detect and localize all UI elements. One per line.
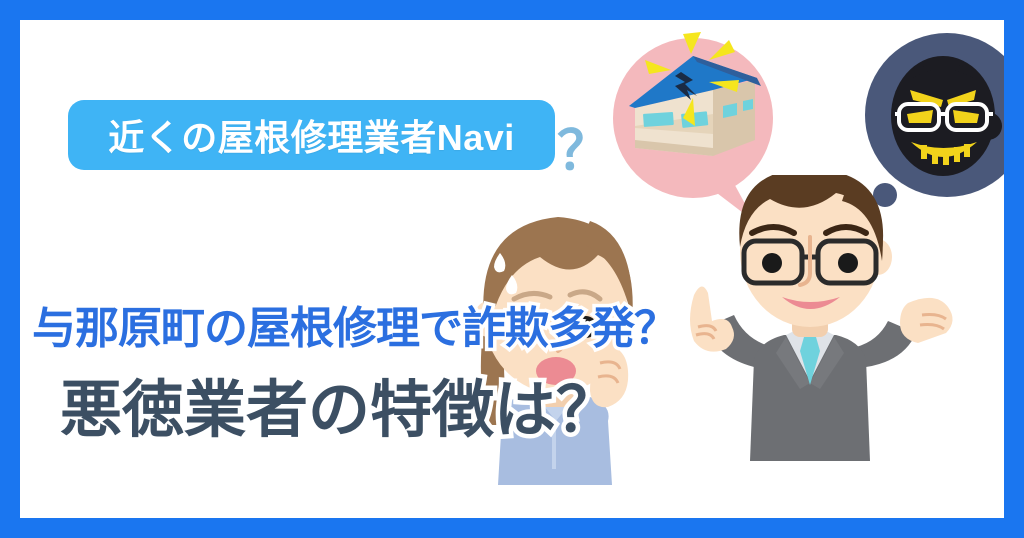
pointing-businessman-illustration bbox=[650, 175, 970, 495]
site-logo-badge[interactable]: 近くの屋根修理業者Navi bbox=[68, 100, 555, 170]
banner-canvas: 近くの屋根修理業者Navi ？ 与那原町の屋根修理で詐欺多発？ 悪徳業者の特徴は… bbox=[0, 0, 1024, 538]
site-logo-label: 近くの屋根修理業者Navi bbox=[108, 109, 515, 161]
banner-inner-area: 近くの屋根修理業者Navi ？ 与那原町の屋根修理で詐欺多発？ 悪徳業者の特徴は… bbox=[20, 20, 1004, 518]
headline-line-1: 与那原町の屋根修理で詐欺多発？ bbox=[32, 307, 677, 351]
question-mark-decor: ？ bbox=[557, 124, 611, 178]
headline-line-2: 悪徳業者の特徴は？ bbox=[60, 380, 618, 442]
